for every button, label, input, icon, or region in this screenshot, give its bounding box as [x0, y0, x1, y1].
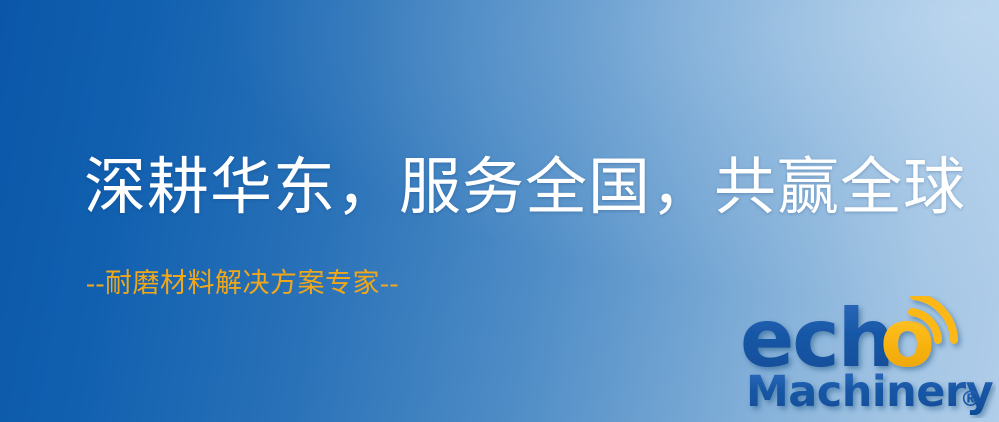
echo-machinery-logo[interactable]: ech o Machinery ® [738, 296, 996, 418]
svg-text:Machinery: Machinery [746, 367, 994, 417]
banner-subtitle: --耐磨材料解决方案专家-- [86, 266, 399, 300]
banner-headline: 深耕华东，服务全国，共赢全球 [84, 152, 944, 224]
registered-trademark-icon: ® [960, 387, 981, 411]
hero-banner: 深耕华东，服务全国，共赢全球 --耐磨材料解决方案专家-- [0, 0, 999, 422]
logo-machinery-text: Machinery ® [746, 367, 994, 417]
